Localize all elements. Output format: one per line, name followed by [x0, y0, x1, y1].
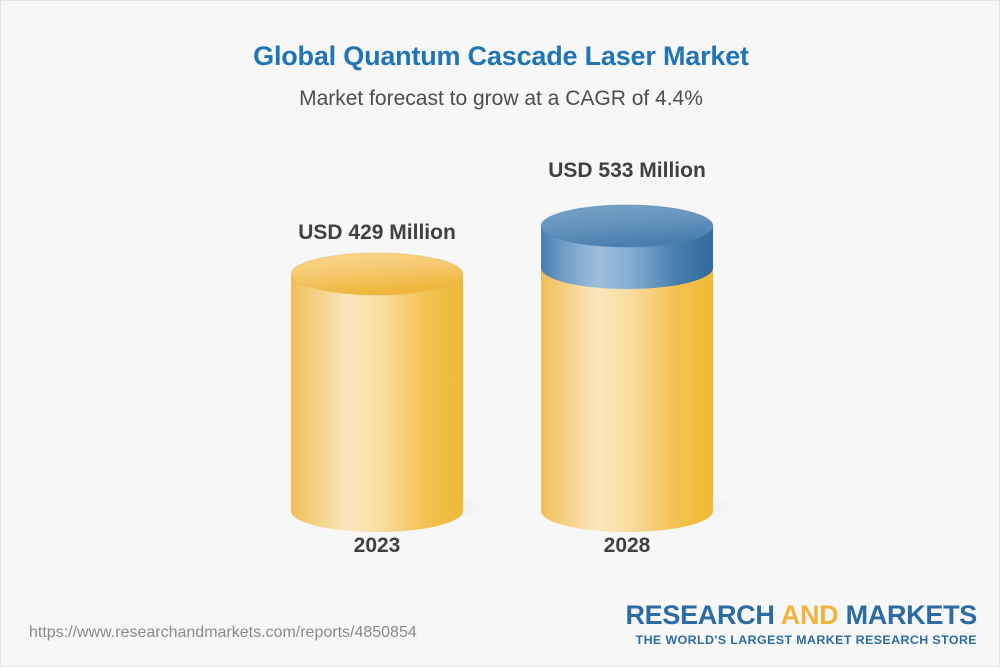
brand-logo[interactable]: RESEARCH AND MARKETS THE WORLD'S LARGEST…: [625, 602, 977, 646]
brand-wordmark: RESEARCH AND MARKETS: [625, 602, 977, 629]
bar-2023: [291, 253, 485, 532]
source-url[interactable]: https://www.researchandmarkets.com/repor…: [29, 624, 417, 642]
brand-word-and: AND: [781, 600, 846, 630]
brand-word-markets: MARKETS: [846, 600, 977, 630]
brand-word-research: RESEARCH: [625, 600, 780, 630]
value-label-2028: USD 533 Million: [527, 159, 727, 183]
chart-canvas: Global Quantum Cascade Laser Market Mark…: [0, 0, 1000, 667]
brand-tagline: THE WORLD'S LARGEST MARKET RESEARCH STOR…: [625, 634, 977, 646]
category-label-2028: 2028: [527, 534, 727, 558]
category-label-2023: 2023: [277, 534, 477, 558]
bar-2028: [541, 205, 735, 532]
value-label-2023: USD 429 Million: [277, 221, 477, 245]
chart-plot-area: [1, 1, 1000, 601]
